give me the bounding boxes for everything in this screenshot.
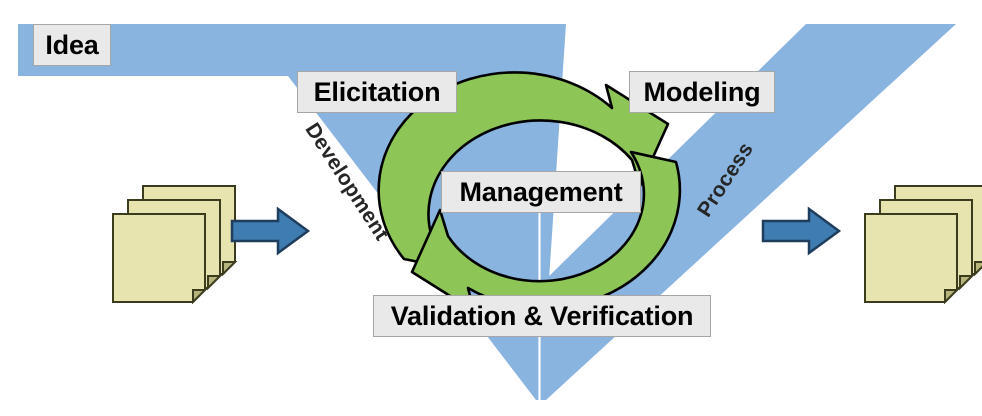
label-validation: Validation & Verification [373, 295, 711, 337]
label-modeling-text: Modeling [644, 77, 761, 108]
label-validation-text: Validation & Verification [391, 301, 694, 332]
label-idea: Idea [33, 24, 111, 66]
diagram-canvas: Idea Elicitation Modeling Management Val… [0, 0, 982, 416]
label-elicitation: Elicitation [297, 71, 457, 113]
label-modeling: Modeling [629, 71, 775, 113]
label-management-text: Management [459, 177, 622, 208]
label-elicitation-text: Elicitation [314, 77, 441, 108]
label-idea-text: Idea [45, 30, 98, 61]
label-management: Management [441, 171, 641, 213]
output-document-stack [865, 186, 982, 302]
